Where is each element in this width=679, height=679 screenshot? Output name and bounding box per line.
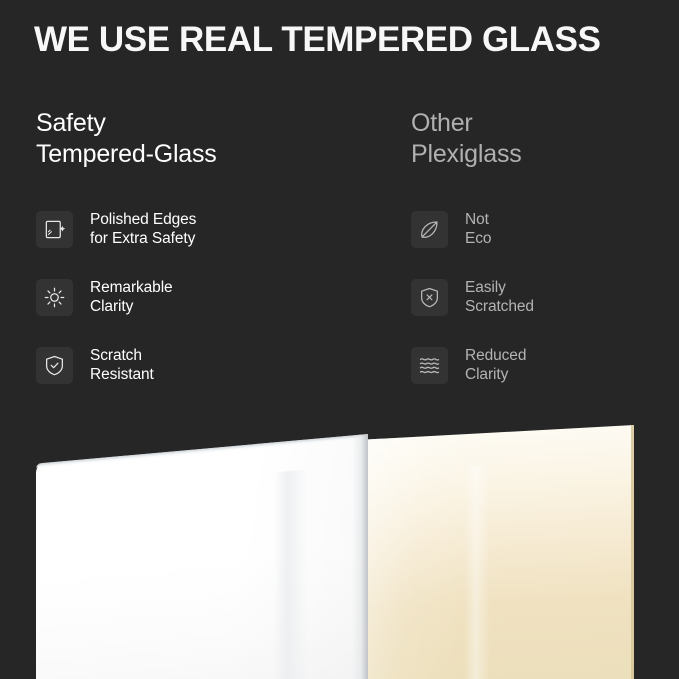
plexiglass-panel — [368, 425, 634, 679]
column-heading-right-line1: Other — [411, 109, 473, 137]
feature-row-scratch-resistant: Scratch Resistant — [36, 344, 336, 386]
feature-list-right: Not Eco Easily Scratched — [411, 208, 679, 386]
feature-label-line1: Scratch — [90, 347, 142, 364]
feature-list-left: Polished Edges for Extra Safety Remarkab… — [36, 208, 336, 386]
column-plexiglass: Other Plexiglass Not Eco — [411, 108, 679, 412]
feature-row-reduced-clarity: Reduced Clarity — [411, 344, 679, 386]
feature-label-line2: Resistant — [90, 365, 154, 385]
column-heading-left-line2: Tempered-Glass — [36, 139, 336, 170]
feature-label-line2: for Extra Safety — [90, 229, 196, 249]
shield-x-icon — [411, 279, 448, 316]
feature-label-line1: Reduced — [465, 347, 526, 364]
leaf-crossed-out-icon — [411, 211, 448, 248]
feature-label-line1: Remarkable — [90, 279, 173, 296]
feature-label-reduced-clarity: Reduced Clarity — [465, 346, 526, 385]
feature-label-line2: Clarity — [465, 365, 526, 385]
sun-brightness-icon — [36, 279, 73, 316]
column-heading-right-line2: Plexiglass — [411, 139, 679, 170]
tempered-glass-panel — [36, 434, 368, 679]
shield-check-icon — [36, 347, 73, 384]
feature-label-polished-edges: Polished Edges for Extra Safety — [90, 210, 196, 249]
feature-row-polished-edges: Polished Edges for Extra Safety — [36, 208, 336, 250]
feature-label-line2: Eco — [465, 229, 491, 249]
wavy-lines-icon — [411, 347, 448, 384]
feature-label-not-eco: Not Eco — [465, 210, 491, 249]
polished-edge-sparkle-icon — [36, 211, 73, 248]
page-title: WE USE REAL TEMPERED GLASS — [34, 19, 654, 61]
feature-label-line1: Not — [465, 211, 489, 228]
feature-label-line1: Polished Edges — [90, 211, 196, 228]
feature-label-scratch-resistant: Scratch Resistant — [90, 346, 154, 385]
feature-label-remarkable-clarity: Remarkable Clarity — [90, 278, 173, 317]
column-tempered-glass: Safety Tempered-Glass Polished Edges for… — [36, 108, 336, 412]
feature-label-line2: Clarity — [90, 297, 173, 317]
feature-label-line1: Easily — [465, 279, 506, 296]
comparison-infographic: WE USE REAL TEMPERED GLASS Safety Temper… — [0, 0, 679, 679]
column-heading-right: Other Plexiglass — [411, 108, 679, 170]
feature-label-easily-scratched: Easily Scratched — [465, 278, 534, 317]
product-photo — [0, 398, 679, 679]
feature-label-line2: Scratched — [465, 297, 534, 317]
feature-row-easily-scratched: Easily Scratched — [411, 276, 679, 318]
feature-row-remarkable-clarity: Remarkable Clarity — [36, 276, 336, 318]
column-heading-left: Safety Tempered-Glass — [36, 108, 336, 170]
feature-row-not-eco: Not Eco — [411, 208, 679, 250]
glass-reflection-highlight — [274, 469, 308, 679]
column-heading-left-line1: Safety — [36, 109, 106, 137]
